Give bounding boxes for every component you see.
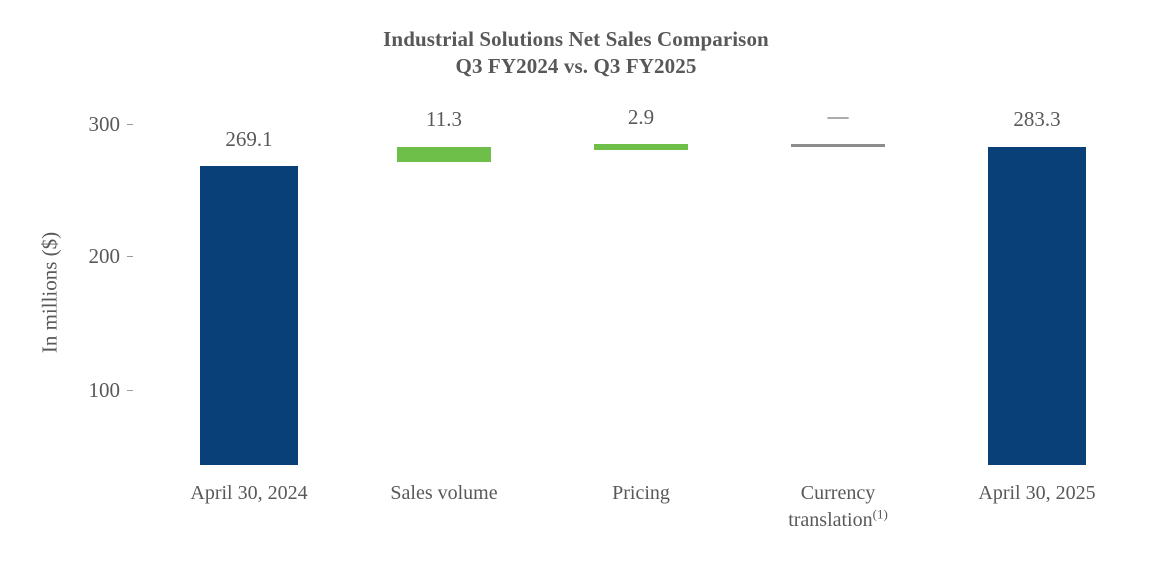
bar-value-pricing: 2.9 [572, 106, 710, 128]
plot-area: 269.1 11.3 2.9 — 283.3 April 30, 2024 Sa… [133, 0, 1133, 576]
x-label-currency-translation: Currency translation(1) [748, 480, 928, 534]
x-label-april-30-2025: April 30, 2025 [947, 480, 1127, 507]
y-axis-tick-labels: 300 200 100 [40, 0, 120, 576]
bar-currency-translation[interactable] [791, 144, 885, 147]
bar-value-sales-volume: 11.3 [375, 108, 513, 130]
x-label-line1: April 30, 2024 [190, 482, 307, 504]
bar-pricing[interactable] [594, 144, 688, 150]
x-label-line1: April 30, 2025 [978, 482, 1095, 504]
x-label-sales-volume: Sales volume [354, 480, 534, 507]
x-label-line1: Currency [801, 482, 875, 504]
waterfall-chart: Industrial Solutions Net Sales Compariso… [0, 0, 1152, 576]
bar-value-april-30-2024: 269.1 [180, 128, 318, 150]
y-tick-label-100: 100 [50, 380, 120, 401]
bar-value-currency-translation: — [769, 105, 907, 127]
x-label-april-30-2024: April 30, 2024 [159, 480, 339, 507]
x-label-line1: Pricing [612, 482, 670, 504]
bar-april-30-2025[interactable] [988, 147, 1086, 465]
x-label-pricing: Pricing [551, 480, 731, 507]
y-tick-label-300: 300 [50, 114, 120, 135]
bar-value-april-30-2025: 283.3 [968, 108, 1106, 130]
y-tick-label-200: 200 [50, 246, 120, 267]
x-label-line1: Sales volume [390, 482, 497, 504]
bar-april-30-2024[interactable] [200, 166, 298, 465]
bar-sales-volume[interactable] [397, 147, 491, 162]
footnote-marker: (1) [873, 506, 888, 521]
x-label-line2: translation [788, 509, 872, 531]
